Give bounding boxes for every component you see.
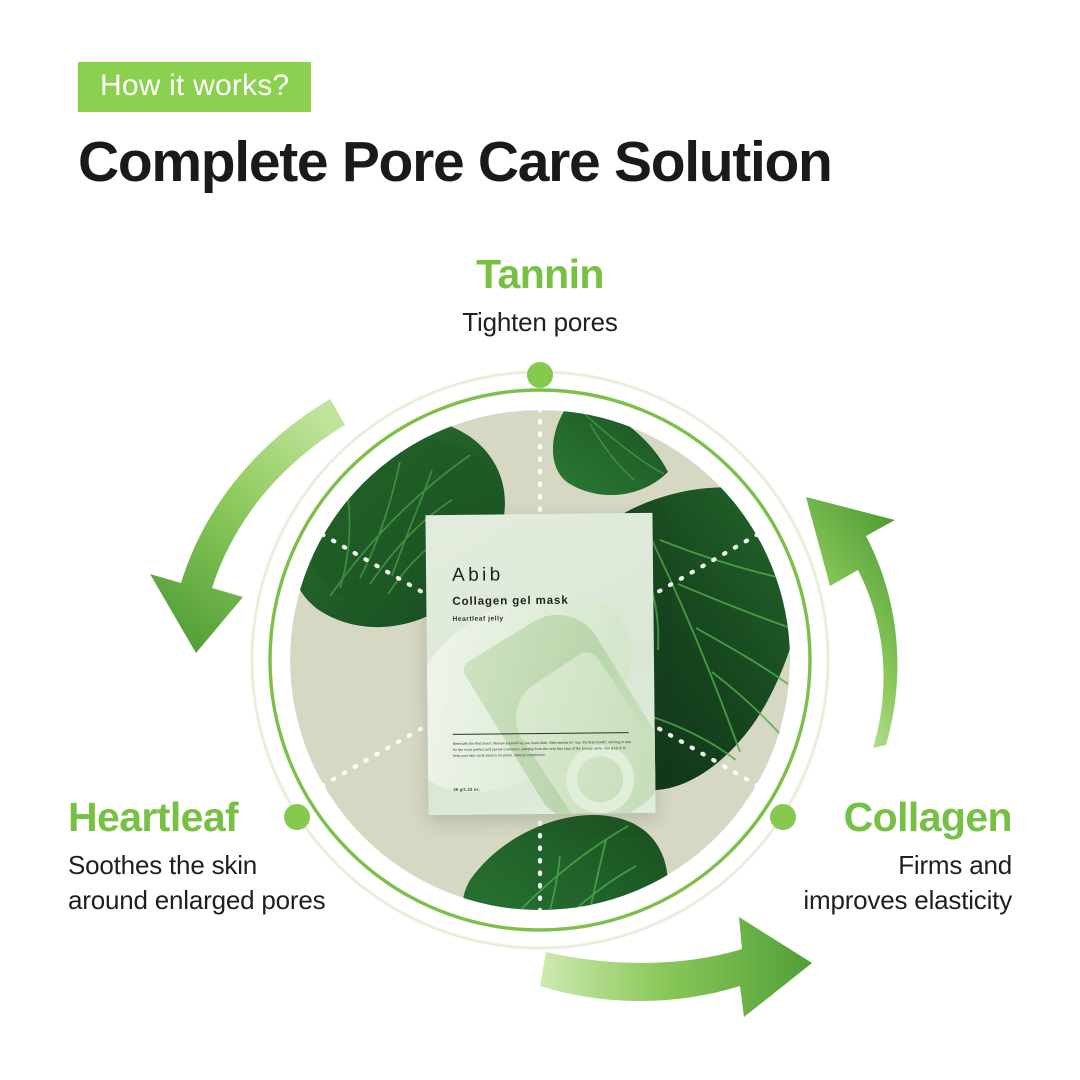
- product-name: Collagen gel mask: [452, 595, 568, 608]
- node-label-tannin: Tannin Tighten pores: [0, 252, 1080, 340]
- node-dot-collagen[interactable]: [770, 804, 796, 830]
- arrow-bottom-right: [540, 917, 812, 1017]
- product-variant: Heartleaf jelly: [452, 615, 503, 623]
- node-title-heartleaf: Heartleaf: [68, 795, 325, 839]
- node-label-heartleaf: Heartleaf Soothes the skin around enlarg…: [68, 795, 325, 917]
- node-dot-tannin[interactable]: [527, 362, 553, 388]
- node-desc-heartleaf-line2: around enlarged pores: [68, 883, 325, 917]
- infographic-canvas: How it works? Complete Pore Care Solutio…: [0, 0, 1080, 1080]
- node-desc-collagen-line2: improves elasticity: [803, 883, 1012, 917]
- node-desc-tannin: Tighten pores: [0, 305, 1080, 339]
- product-description: Meet with the first moon. Renew yourself…: [453, 739, 633, 759]
- product-package: Abib Collagen gel mask Heartleaf jelly M…: [425, 513, 655, 815]
- arrow-right-up: [806, 497, 897, 748]
- node-desc-collagen: Firms and improves elasticity: [803, 848, 1012, 917]
- pore-care-cycle-diagram: Abib Collagen gel mask Heartleaf jelly M…: [0, 0, 1080, 1080]
- product-weight: 36 g/1.23 oz.: [453, 787, 480, 792]
- product-brand: Abib: [452, 564, 504, 587]
- node-desc-heartleaf-line1: Soothes the skin: [68, 848, 325, 882]
- node-title-tannin: Tannin: [0, 252, 1080, 296]
- node-desc-collagen-line1: Firms and: [803, 848, 1012, 882]
- node-title-collagen: Collagen: [803, 795, 1012, 839]
- node-label-collagen: Collagen Firms and improves elasticity: [803, 795, 1012, 917]
- node-desc-heartleaf: Soothes the skin around enlarged pores: [68, 848, 325, 917]
